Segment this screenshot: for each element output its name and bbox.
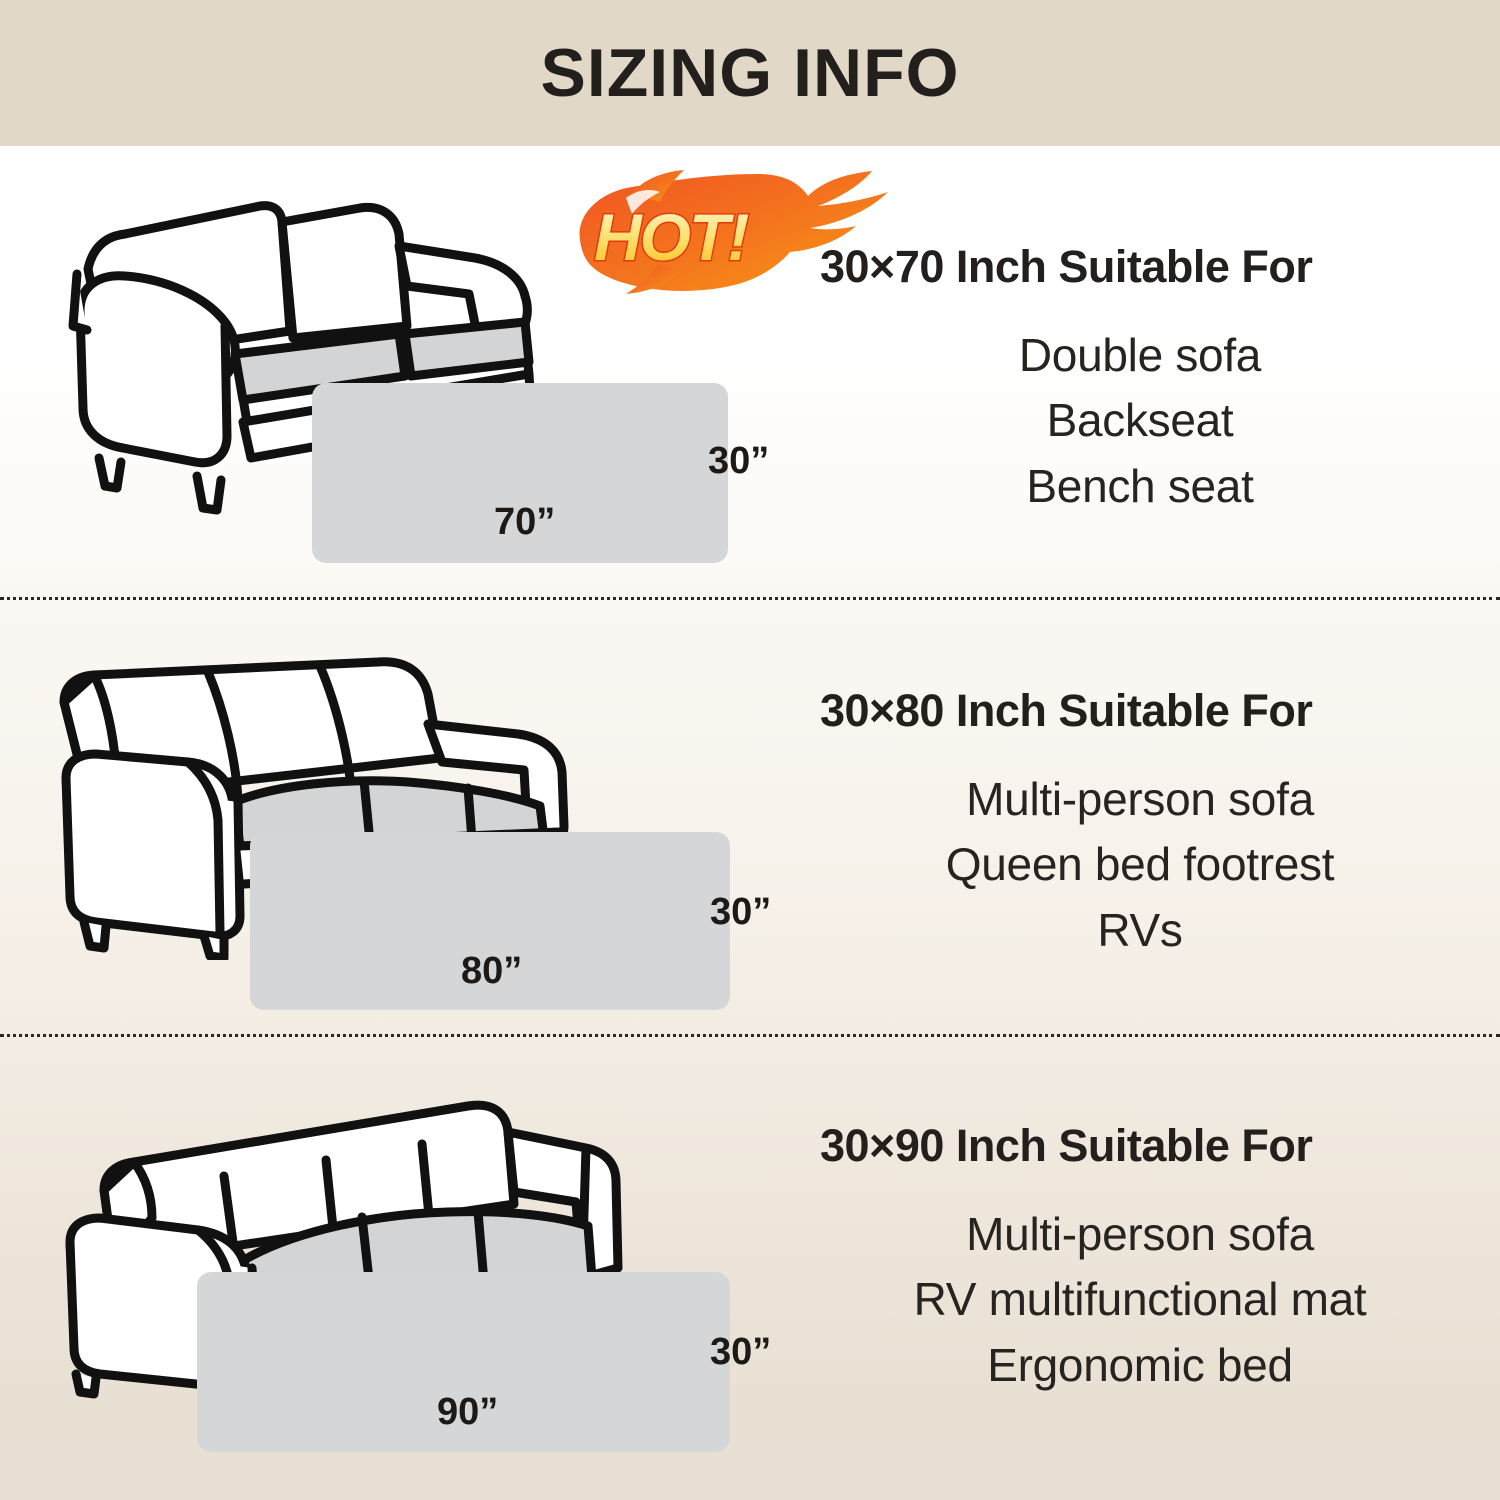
copy-block-30x80: 30×80 Inch Suitable For Multi-person sof… xyxy=(820,685,1460,963)
list-item: Multi-person sofa xyxy=(820,1202,1460,1267)
copy-block-30x90: 30×90 Inch Suitable For Multi-person sof… xyxy=(820,1120,1460,1398)
list-item: Double sofa xyxy=(820,323,1460,388)
page-title: SIZING INFO xyxy=(0,0,1500,146)
svg-text:HOT!: HOT! xyxy=(594,200,748,274)
width-label-80: 80” xyxy=(461,950,522,993)
sizing-info-infographic: SIZING INFO xyxy=(0,0,1500,1500)
list-item: Backseat xyxy=(820,388,1460,453)
width-label-70: 70” xyxy=(494,501,555,544)
list-item: Multi-person sofa xyxy=(820,767,1460,832)
list-item: Queen bed footrest xyxy=(820,832,1460,897)
suitable-list-30x70: Double sofa Backseat Bench seat xyxy=(820,323,1460,519)
size-heading-30x90: 30×90 Inch Suitable For xyxy=(820,1120,1460,1172)
width-label-90: 90” xyxy=(437,1391,498,1434)
section-size-30x90: 90” 30” 30×90 Inch Suitable For Multi-pe… xyxy=(0,1036,1500,1500)
list-item: Ergonomic bed xyxy=(820,1333,1460,1398)
list-item: RVs xyxy=(820,898,1460,963)
height-label-30: 30” xyxy=(710,891,771,934)
height-label-30: 30” xyxy=(708,440,769,483)
size-heading-30x70: 30×70 Inch Suitable For xyxy=(820,241,1460,293)
size-heading-30x80: 30×80 Inch Suitable For xyxy=(820,685,1460,737)
list-item: RV multifunctional mat xyxy=(820,1267,1460,1332)
list-item: Bench seat xyxy=(820,454,1460,519)
suitable-list-30x90: Multi-person sofa RV multifunctional mat… xyxy=(820,1202,1460,1398)
height-label-30: 30” xyxy=(710,1331,771,1374)
suitable-list-30x80: Multi-person sofa Queen bed footrest RVs xyxy=(820,767,1460,963)
copy-block-30x70: 30×70 Inch Suitable For Double sofa Back… xyxy=(820,241,1460,519)
section-size-30x70: 70” 30” xyxy=(0,146,1500,598)
section-size-30x80: 80” 30” 30×80 Inch Suitable For Multi-pe… xyxy=(0,600,1500,1034)
